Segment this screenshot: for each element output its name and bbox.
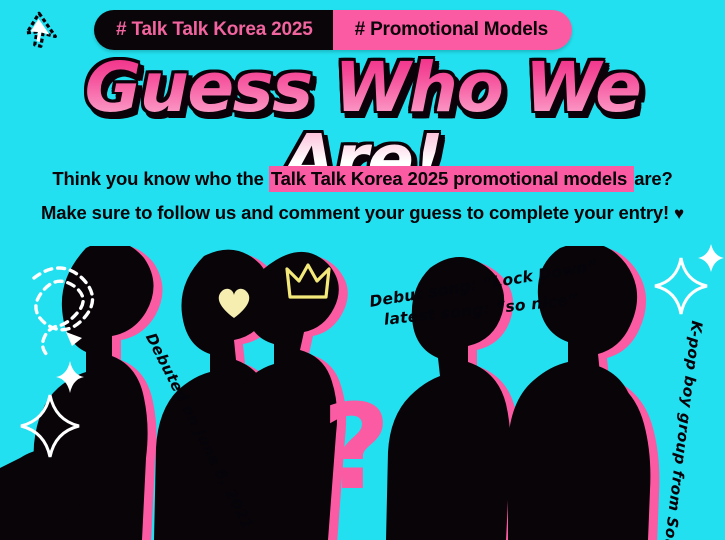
copy-line-instructions: Make sure to follow us and comment your …	[0, 196, 725, 231]
poster-canvas: # Talk Talk Korea 2025 # Promotional Mod…	[0, 0, 725, 540]
copy-question-suffix: are?	[634, 168, 672, 189]
arrow-cursor-icon	[16, 11, 66, 51]
hashtag-pill-promotional-models[interactable]: # Promotional Models	[333, 10, 572, 50]
body-copy: Think you know who the Talk Talk Korea 2…	[0, 162, 725, 231]
hashtag-pill-talk-talk-korea[interactable]: # Talk Talk Korea 2025	[94, 10, 333, 50]
silhouette-stage	[0, 246, 725, 540]
silhouette-group	[0, 246, 725, 540]
copy-question-highlight: Talk Talk Korea 2025 promotional models	[269, 166, 634, 192]
hashtag-bar: # Talk Talk Korea 2025 # Promotional Mod…	[0, 7, 725, 49]
silhouette-bodies	[0, 246, 650, 540]
copy-question-prefix: Think you know who the	[52, 168, 269, 189]
heart-icon: ♥	[674, 204, 684, 223]
copy-line-question: Think you know who the Talk Talk Korea 2…	[0, 162, 725, 196]
hashtag-pill-group: # Talk Talk Korea 2025 # Promotional Mod…	[94, 10, 572, 50]
copy-instructions-text: Make sure to follow us and comment your …	[41, 202, 674, 223]
